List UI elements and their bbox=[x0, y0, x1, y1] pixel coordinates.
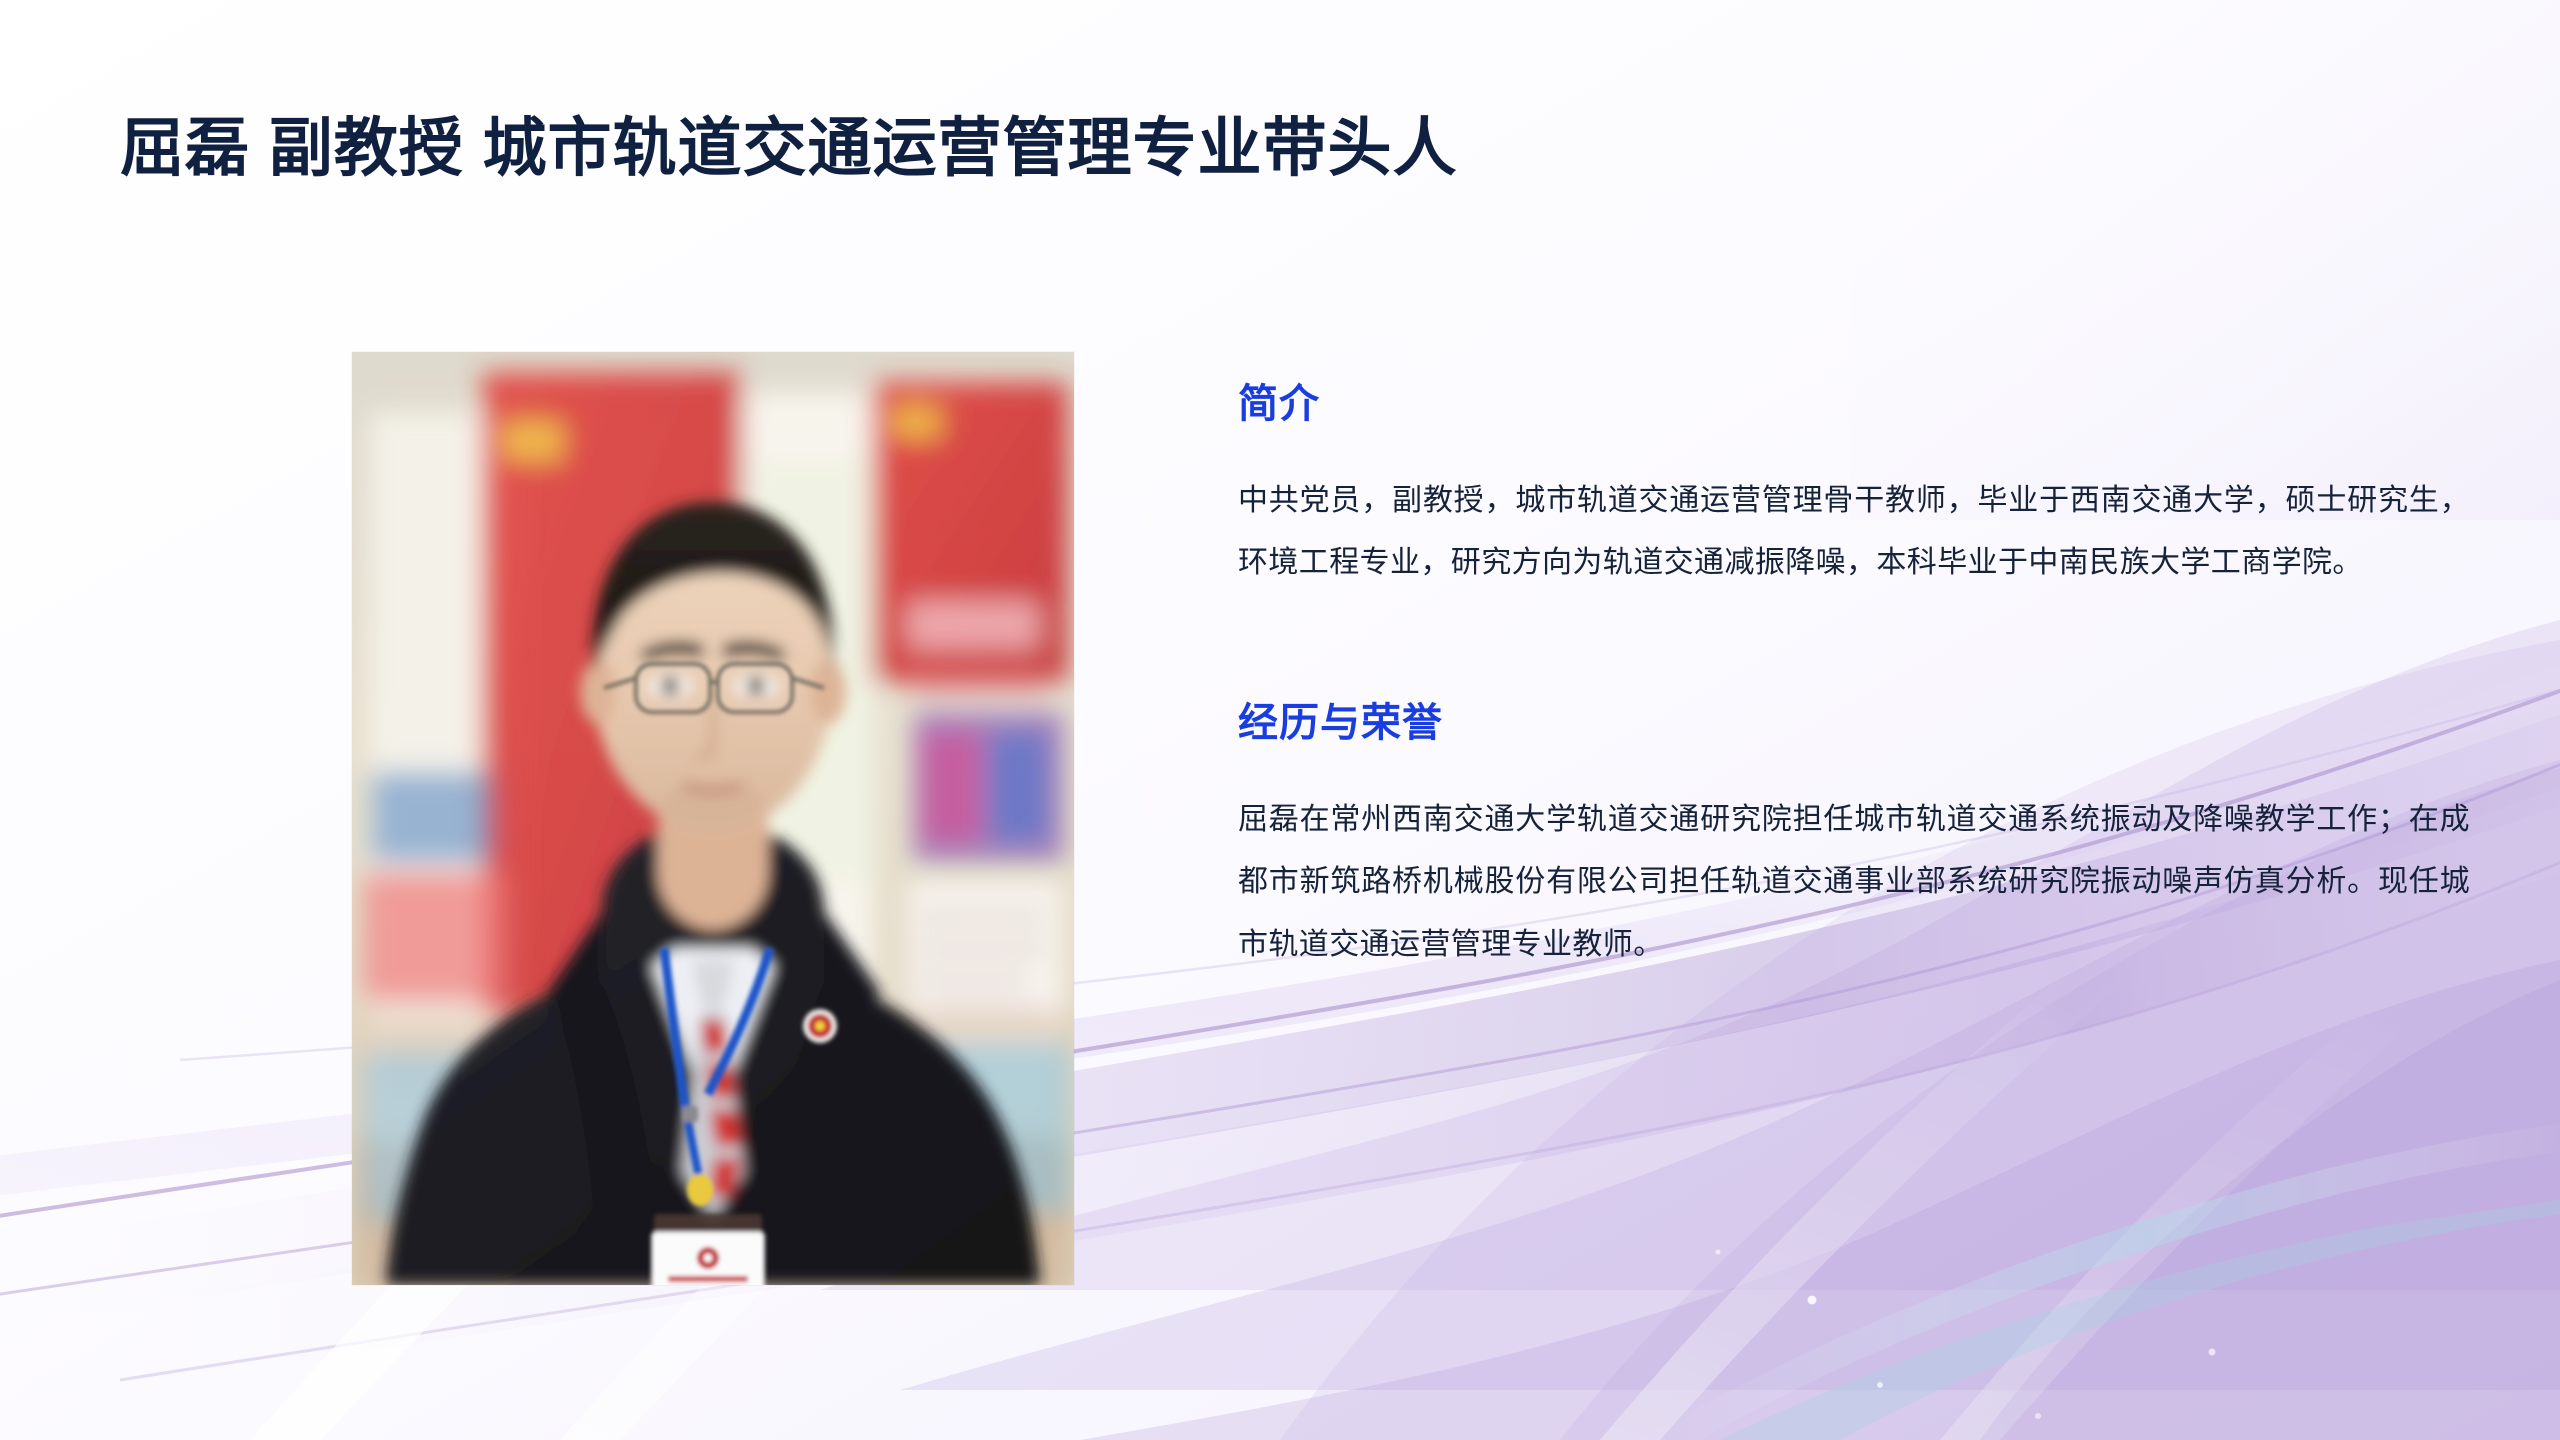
portrait-photo bbox=[352, 352, 1074, 1285]
section-heading-profile: 简介 bbox=[1238, 380, 2470, 428]
portrait-photo-frame bbox=[352, 352, 1074, 1285]
section-experience: 经历与荣誉 屈磊在常州西南交通大学轨道交通研究院担任城市轨道交通系统振动及降噪教… bbox=[1238, 699, 2470, 976]
section-profile: 简介 中共党员，副教授，城市轨道交通运营管理骨干教师，毕业于西南交通大学，硕士研… bbox=[1238, 380, 2470, 595]
section-body-experience: 屈磊在常州西南交通大学轨道交通研究院担任城市轨道交通系统振动及降噪教学工作；在成… bbox=[1238, 789, 2470, 976]
section-body-profile: 中共党员，副教授，城市轨道交通运营管理骨干教师，毕业于西南交通大学，硕士研究生，… bbox=[1238, 470, 2470, 595]
content-column: 简介 中共党员，副教授，城市轨道交通运营管理骨干教师，毕业于西南交通大学，硕士研… bbox=[1238, 380, 2470, 976]
section-heading-experience: 经历与荣誉 bbox=[1238, 699, 2470, 747]
slide-root: 屈磊 副教授 城市轨道交通运营管理专业带头人 bbox=[0, 0, 2560, 1440]
page-title: 屈磊 副教授 城市轨道交通运营管理专业带头人 bbox=[120, 112, 1458, 186]
